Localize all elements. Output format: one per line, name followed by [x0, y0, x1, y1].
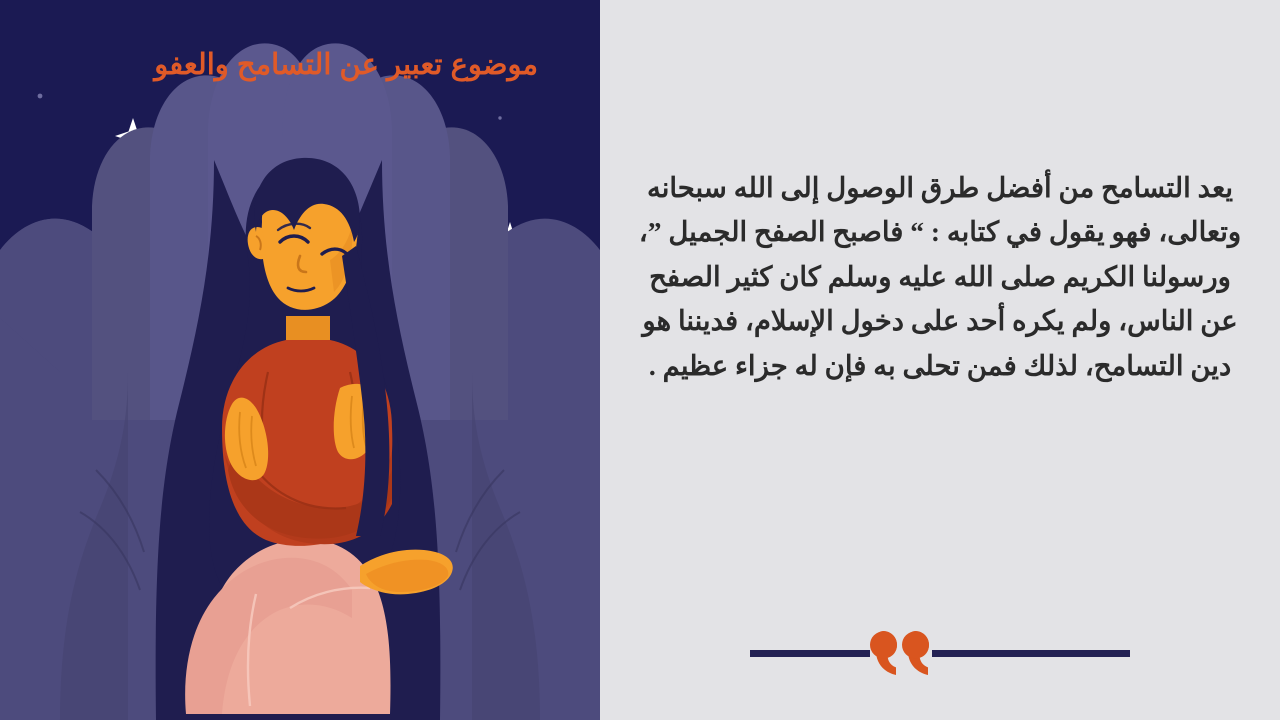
divider-rule-left: [932, 650, 1130, 657]
text-panel: يعد التسامح من أفضل طرق الوصول إلى الله …: [600, 0, 1280, 720]
quote-mark-icon: [870, 631, 932, 675]
tolerance-illustration: [0, 0, 600, 720]
quote-divider: [600, 628, 1280, 678]
slide-root: موضوع تعبير عن التسامح والعفو يعد التسام…: [0, 0, 1280, 720]
illustration-panel: موضوع تعبير عن التسامح والعفو: [0, 0, 600, 720]
page-title: موضوع تعبير عن التسامح والعفو: [68, 47, 538, 83]
body-paragraph: يعد التسامح من أفضل طرق الوصول إلى الله …: [638, 166, 1242, 389]
divider-rule-right: [750, 650, 870, 657]
